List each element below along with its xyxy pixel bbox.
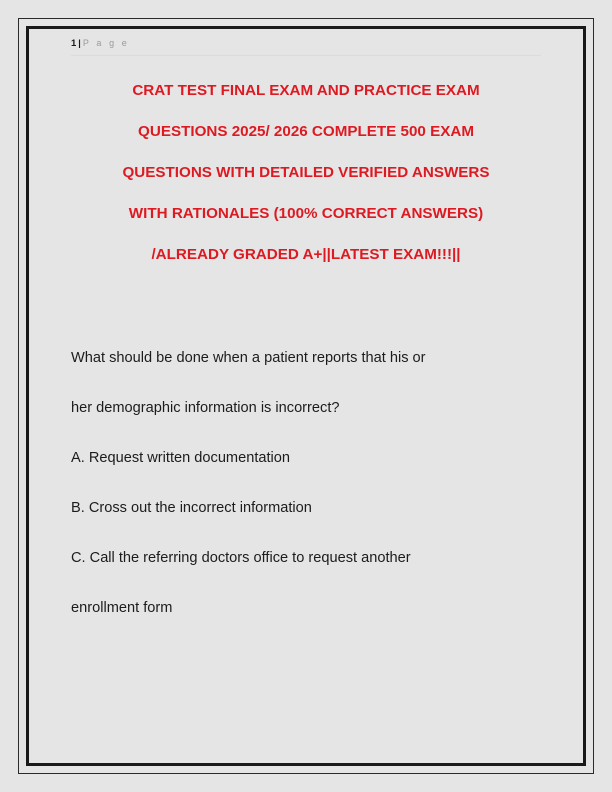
answer-option-c-line-1: C. Call the referring doctors office to … [71,533,541,583]
question-block: What should be done when a patient repor… [71,333,541,633]
title-line-1: CRAT TEST FINAL EXAM AND PRACTICE EXAM [56,70,556,111]
running-header: 1|P a g e [71,35,541,51]
title-line-2: QUESTIONS 2025/ 2026 COMPLETE 500 EXAM [56,111,556,152]
answer-option-c-line-2: enrollment form [71,583,541,633]
title-line-3: QUESTIONS WITH DETAILED VERIFIED ANSWERS [56,152,556,193]
page-content: 1|P a g e CRAT TEST FINAL EXAM AND PRACT… [0,0,612,792]
answer-option-a: A. Request written documentation [71,433,541,483]
header-divider-rule [71,55,541,56]
title-line-4: WITH RATIONALES (100% CORRECT ANSWERS) [56,193,556,234]
title-line-5: /ALREADY GRADED A+||LATEST EXAM!!!|| [56,234,556,275]
document-title: CRAT TEST FINAL EXAM AND PRACTICE EXAM Q… [56,70,556,275]
header-page-word: P a g e [83,38,130,48]
question-text-line-2: her demographic information is incorrect… [71,383,541,433]
question-text-line-1: What should be done when a patient repor… [71,333,541,383]
answer-option-b: B. Cross out the incorrect information [71,483,541,533]
